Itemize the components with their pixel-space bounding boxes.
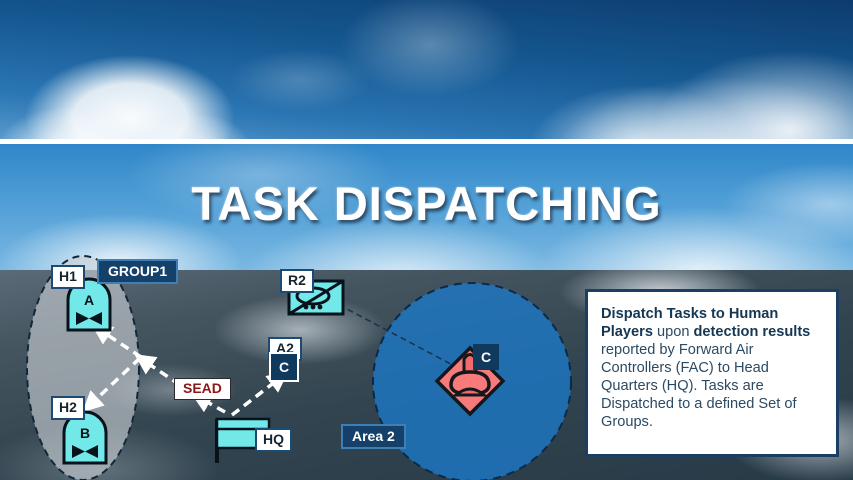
target-label-c: C — [473, 344, 499, 370]
unit-label-r2: R2 — [280, 269, 314, 293]
unit-label-h1: H1 — [51, 265, 85, 289]
svg-text:B: B — [80, 425, 90, 441]
slide-canvas: TASK DISPATCHING — [0, 0, 853, 480]
description-panel: Dispatch Tasks to Human Players upon det… — [585, 289, 839, 457]
svg-text:A: A — [84, 292, 94, 308]
hq-label: HQ — [255, 428, 292, 452]
fac-unit-c-badge: C — [269, 352, 299, 382]
task-label-sead: SEAD — [174, 378, 231, 400]
description-text: Dispatch Tasks to Human Players upon det… — [601, 306, 823, 432]
group1-label: GROUP1 — [97, 259, 178, 284]
unit-label-h2: H2 — [51, 396, 85, 420]
description-plain-1: upon — [653, 324, 694, 340]
area2-label: Area 2 — [341, 424, 406, 449]
dispatch-arrow-hq-to-a2 — [232, 378, 280, 415]
description-bold-2: detection results — [694, 324, 811, 340]
description-plain-2: reported by Forward Air Controllers (FAC… — [601, 342, 797, 430]
